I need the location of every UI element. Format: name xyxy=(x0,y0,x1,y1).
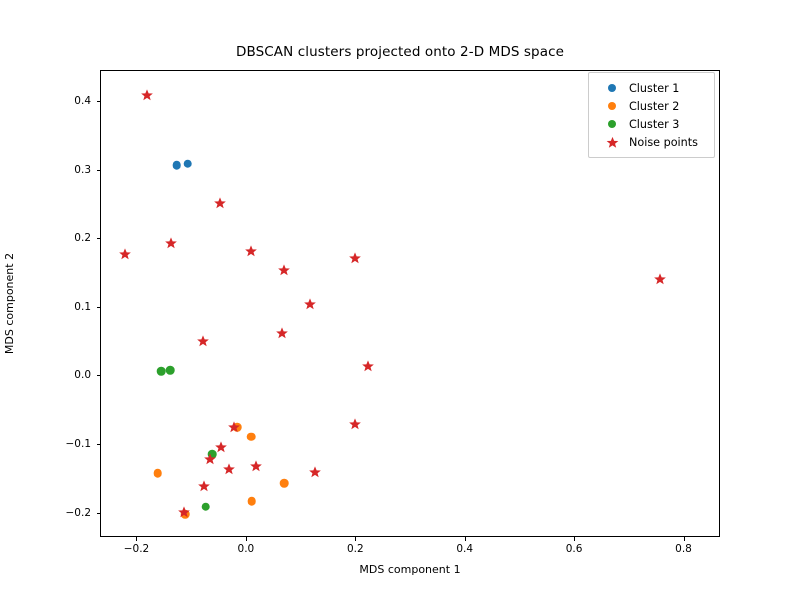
legend: Cluster 1Cluster 2Cluster 3Noise points xyxy=(588,72,715,158)
x-tick-label: 0.2 xyxy=(347,543,364,555)
y-tick-label: 0.4 xyxy=(74,95,91,107)
data-point xyxy=(249,459,262,472)
x-tick-mark xyxy=(246,537,247,541)
y-tick-label: 0.1 xyxy=(74,301,91,313)
figure-canvas: DBSCAN clusters projected onto 2-D MDS s… xyxy=(0,0,800,600)
x-tick-mark xyxy=(465,537,466,541)
y-tick-label: −0.2 xyxy=(66,507,92,519)
data-point xyxy=(202,502,211,511)
y-tick-label: 0.2 xyxy=(74,232,91,244)
data-point xyxy=(248,497,257,506)
data-point xyxy=(214,441,227,454)
data-point xyxy=(157,367,166,376)
data-point xyxy=(304,297,317,310)
legend-item-label: Cluster 3 xyxy=(629,118,679,131)
data-point xyxy=(173,161,182,170)
circle-marker-icon xyxy=(595,102,629,111)
y-tick-mark xyxy=(97,375,101,376)
x-tick-label: 0.8 xyxy=(675,543,692,555)
circle-marker-icon xyxy=(595,84,629,93)
x-tick-mark xyxy=(684,537,685,541)
data-point xyxy=(153,469,162,478)
y-tick-mark xyxy=(97,101,101,102)
data-point xyxy=(166,366,175,375)
y-tick-mark xyxy=(97,307,101,308)
x-tick-mark xyxy=(136,537,137,541)
x-axis-label: MDS component 1 xyxy=(100,563,720,576)
legend-item-label: Cluster 1 xyxy=(629,82,679,95)
y-tick-mark xyxy=(97,170,101,171)
data-point xyxy=(362,360,375,373)
data-point xyxy=(213,196,226,209)
x-tick-label: 0.0 xyxy=(238,543,255,555)
y-tick-mark xyxy=(97,444,101,445)
data-point xyxy=(653,273,666,286)
x-tick-label: 0.6 xyxy=(566,543,583,555)
y-tick-label: −0.1 xyxy=(66,438,92,450)
data-point xyxy=(222,463,235,476)
data-point xyxy=(276,327,289,340)
circle-marker-icon xyxy=(595,120,629,129)
legend-item-cluster-1[interactable]: Cluster 1 xyxy=(595,79,708,97)
x-tick-mark xyxy=(355,537,356,541)
data-point xyxy=(228,420,241,433)
legend-item-label: Noise points xyxy=(629,136,698,149)
data-point xyxy=(280,479,289,488)
x-tick-label: −0.2 xyxy=(124,543,150,555)
x-tick-label: 0.4 xyxy=(456,543,473,555)
legend-item-label: Cluster 2 xyxy=(629,100,679,113)
data-point xyxy=(247,433,256,442)
data-point xyxy=(197,480,210,493)
data-point xyxy=(349,251,362,264)
y-axis-label: MDS component 2 xyxy=(0,70,20,537)
y-tick-label: 0.3 xyxy=(74,164,91,176)
y-tick-label: 0.0 xyxy=(74,369,91,381)
data-point xyxy=(177,506,190,519)
y-tick-mark xyxy=(97,238,101,239)
data-point xyxy=(349,417,362,430)
star-marker-icon xyxy=(595,136,629,149)
data-point xyxy=(140,89,153,102)
data-point xyxy=(245,244,258,257)
data-point xyxy=(203,452,216,465)
data-point xyxy=(309,465,322,478)
data-point xyxy=(278,264,291,277)
y-axis-label-text: MDS component 2 xyxy=(4,253,17,354)
data-point xyxy=(119,248,132,261)
data-point xyxy=(184,160,193,169)
data-point xyxy=(164,237,177,250)
legend-item-cluster-2[interactable]: Cluster 2 xyxy=(595,97,708,115)
legend-item-noise-points[interactable]: Noise points xyxy=(595,133,708,151)
x-tick-mark xyxy=(574,537,575,541)
legend-item-cluster-3[interactable]: Cluster 3 xyxy=(595,115,708,133)
y-tick-mark xyxy=(97,513,101,514)
page-title: DBSCAN clusters projected onto 2-D MDS s… xyxy=(0,44,800,60)
data-point xyxy=(196,335,209,348)
